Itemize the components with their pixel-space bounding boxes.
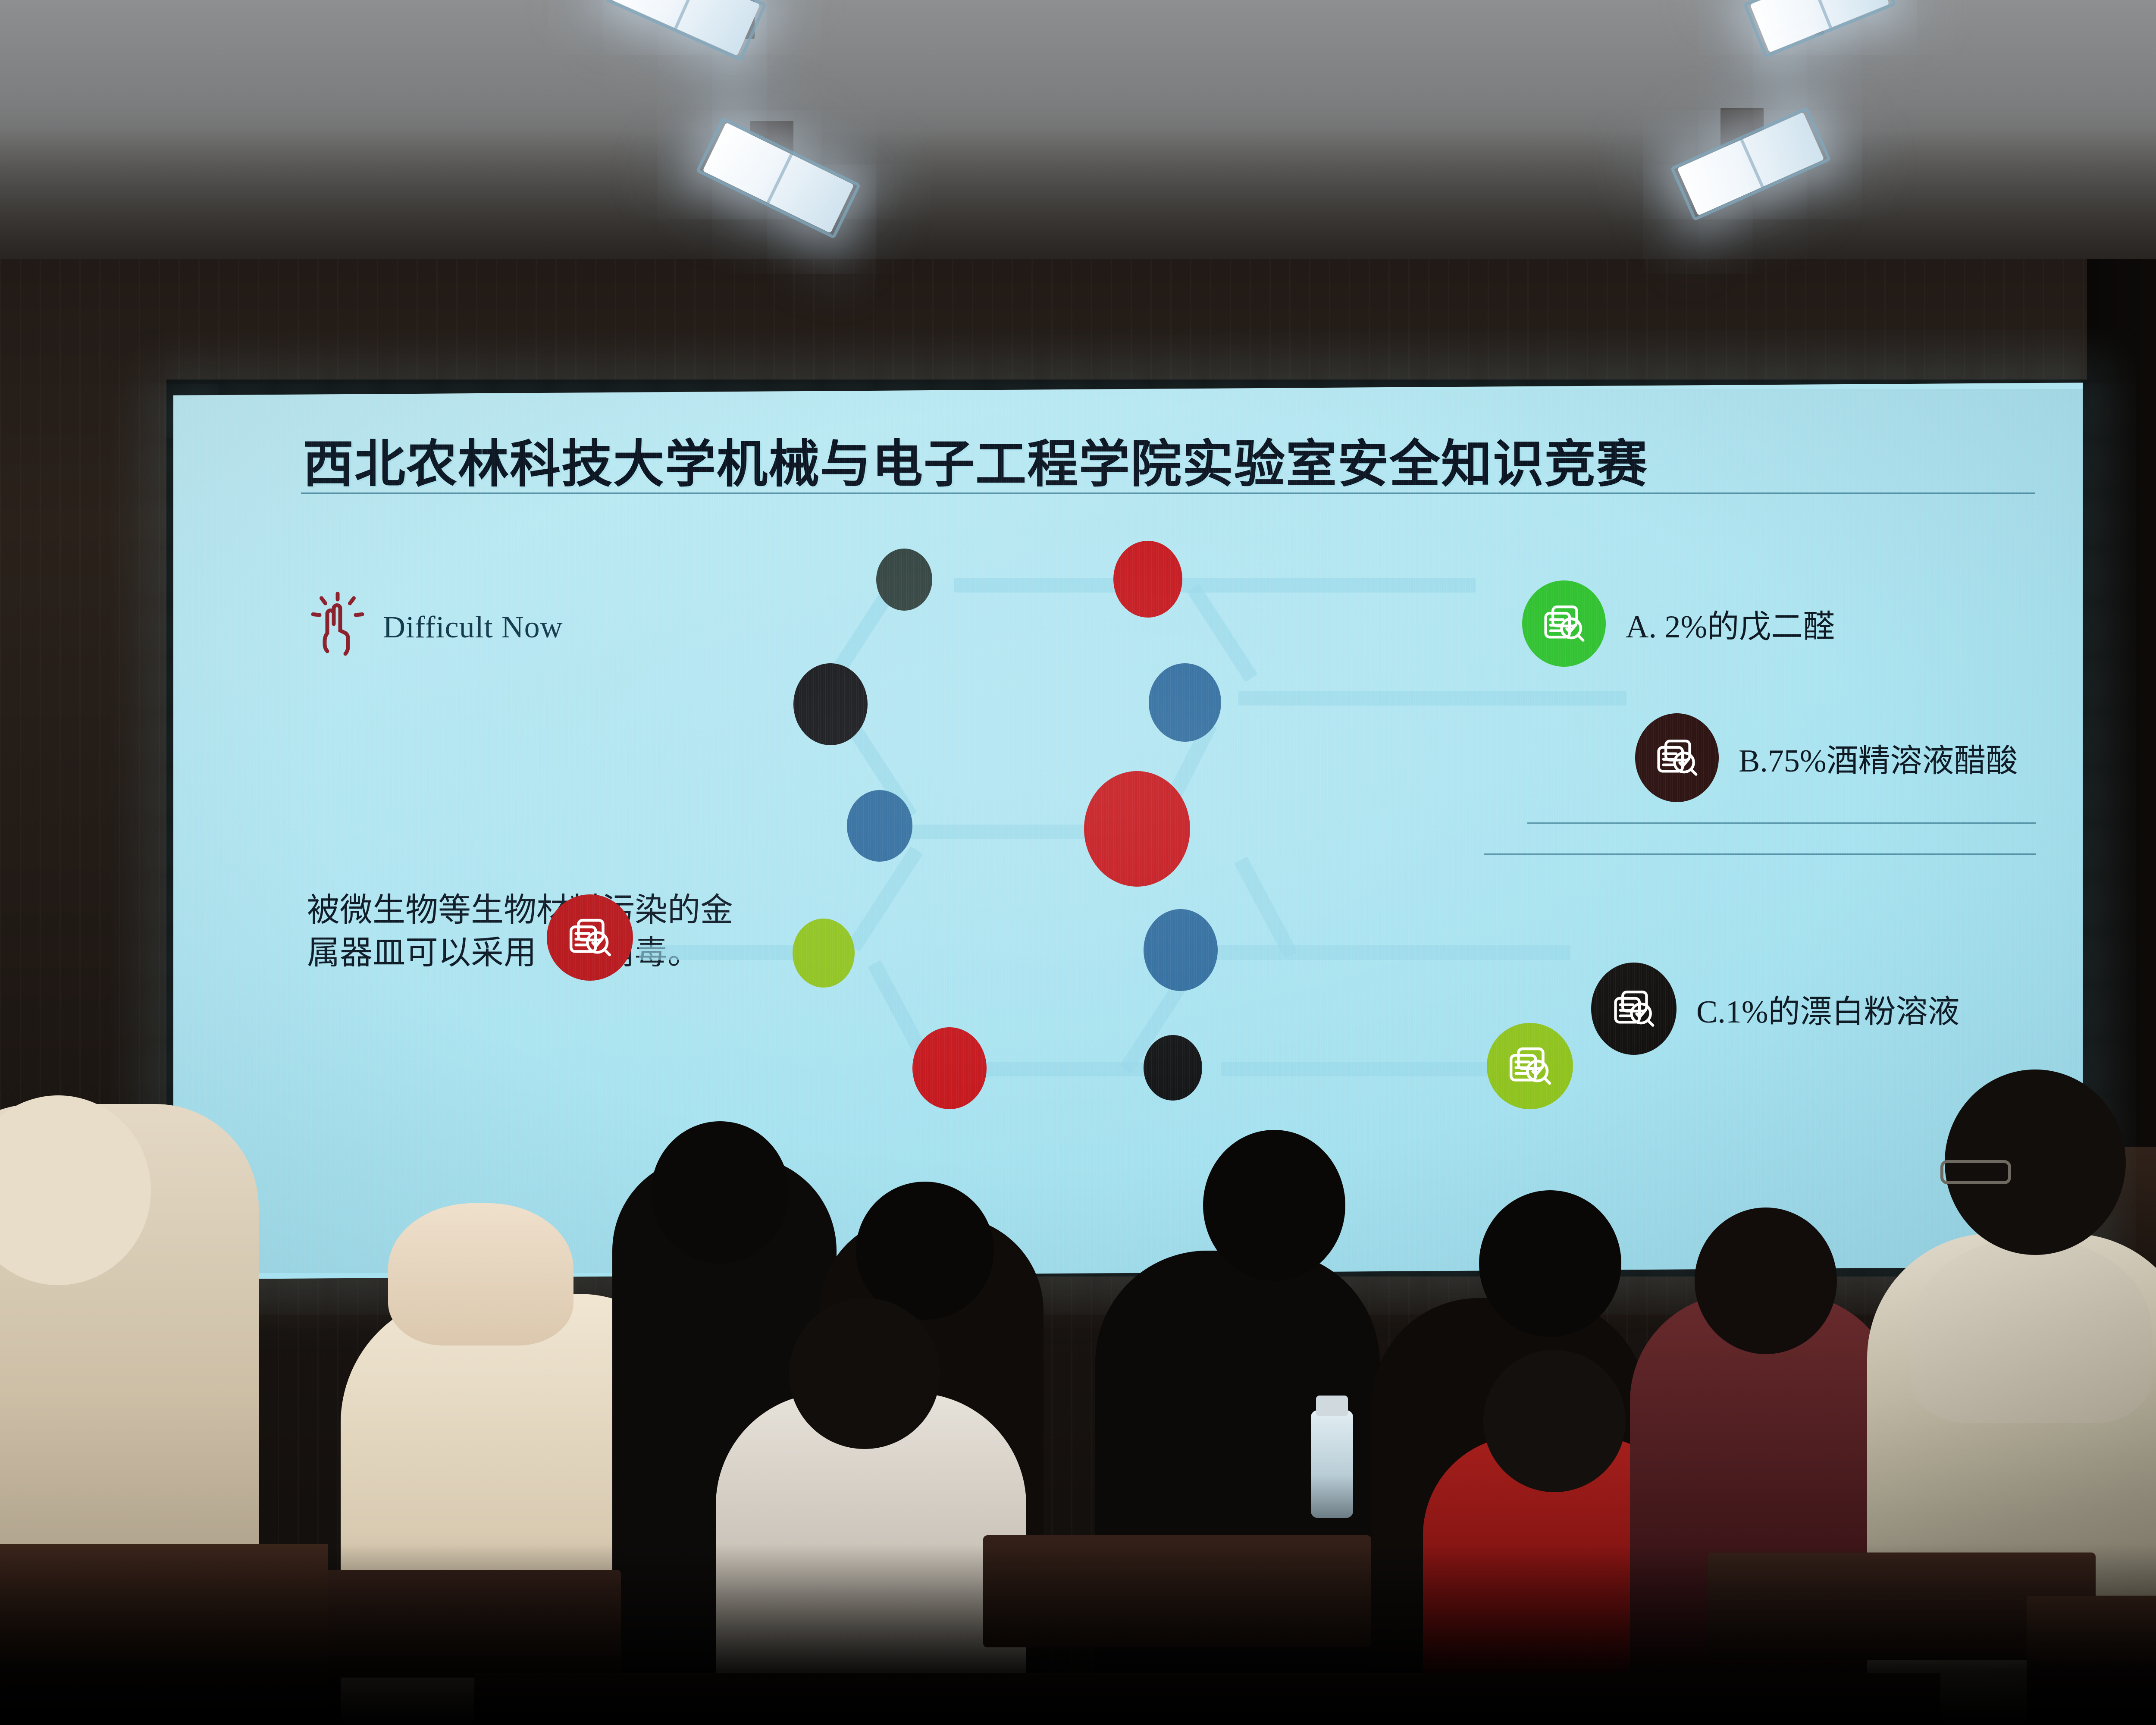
divider-line-lower — [1484, 853, 2036, 855]
divider-line-upper — [1527, 822, 2036, 824]
option-b-label: B.75%酒精溶液醋酸 — [1739, 735, 2018, 781]
option-c[interactable]: C.1%的漂白粉溶液 — [1591, 963, 1960, 1055]
clipboard-search-check-icon — [1651, 732, 1702, 783]
option-a[interactable]: A. 2%的戊二醛 — [1522, 580, 1835, 667]
clipboard-search-check-icon — [1539, 598, 1589, 649]
brand-label: Difficult Now — [383, 609, 563, 645]
spare-bubble[interactable] — [1487, 1023, 1573, 1109]
audience-head-red-jacket — [1483, 1350, 1626, 1492]
option-a-bubble[interactable] — [1522, 580, 1606, 667]
node-top-left — [876, 549, 932, 611]
title-underline — [301, 492, 2035, 494]
clipboard-search-check-icon — [1608, 983, 1659, 1034]
slide-title: 西北农林科技大学机械与电子工程学院实验室安全知识竞赛 — [303, 423, 1648, 496]
water-bottle — [1311, 1410, 1353, 1518]
link-bottomblack-spare — [1221, 1062, 1497, 1076]
link-midleft-center — [906, 825, 1105, 839]
node-center-red — [1084, 771, 1190, 887]
brand-mark: Difficult Now — [305, 592, 563, 663]
option-a-label: A. 2%的戊二醛 — [1626, 601, 1835, 647]
audience-head-4 — [1479, 1190, 1621, 1337]
node-mid-left — [847, 790, 912, 862]
node-bottom-red — [912, 1027, 987, 1109]
link-topleft-topmid — [954, 578, 1118, 593]
hand-point-icon — [305, 592, 370, 663]
link-center-rightlower — [1234, 856, 1297, 959]
audience-head-white-shirt — [789, 1298, 940, 1449]
audience-hood-camo — [1910, 1238, 2152, 1423]
audience-head-3 — [1203, 1130, 1345, 1281]
option-c-bubble[interactable] — [1591, 963, 1677, 1055]
audience-bucket-hat — [388, 1203, 573, 1345]
option-b-bubble[interactable] — [1635, 713, 1719, 802]
node-left-upper — [793, 663, 868, 745]
screenshot-root: 西北农林科技大学机械与电子工程学院实验室安全知识竞赛 — [0, 0, 2156, 1725]
option-c-label: C.1%的漂白粉溶液 — [1696, 986, 1960, 1032]
node-bottom-black — [1144, 1035, 1202, 1101]
water-bottle-cap — [1316, 1396, 1348, 1416]
node-right-lower — [1144, 909, 1218, 991]
node-lime-left — [793, 919, 855, 988]
node-right-upper — [1149, 663, 1221, 742]
question-text: 被微生物等生物材料污染的金属器皿可以采用（）消毒。 — [307, 889, 738, 975]
projection-screen[interactable]: 西北农林科技大学机械与电子工程学院实验室安全知识竞赛 — [173, 383, 2083, 1279]
clipboard-search-check-icon — [564, 911, 616, 964]
node-top-mid — [1113, 541, 1182, 618]
link-rightlower-optC — [1187, 945, 1570, 960]
foreground-shadow — [0, 1544, 2156, 1725]
audience-head-1 — [651, 1121, 789, 1264]
link-midleft-lime — [847, 846, 923, 952]
question-bubble[interactable] — [547, 894, 633, 981]
audience-head-maroon — [1695, 1207, 1837, 1354]
link-rightupper-optB — [1238, 691, 1626, 706]
clipboard-search-check-icon — [1504, 1040, 1556, 1092]
option-b[interactable]: B.75%酒精溶液醋酸 — [1635, 713, 2018, 802]
link-topmid-optA — [1174, 578, 1476, 593]
eyeglasses — [1940, 1160, 2011, 1184]
